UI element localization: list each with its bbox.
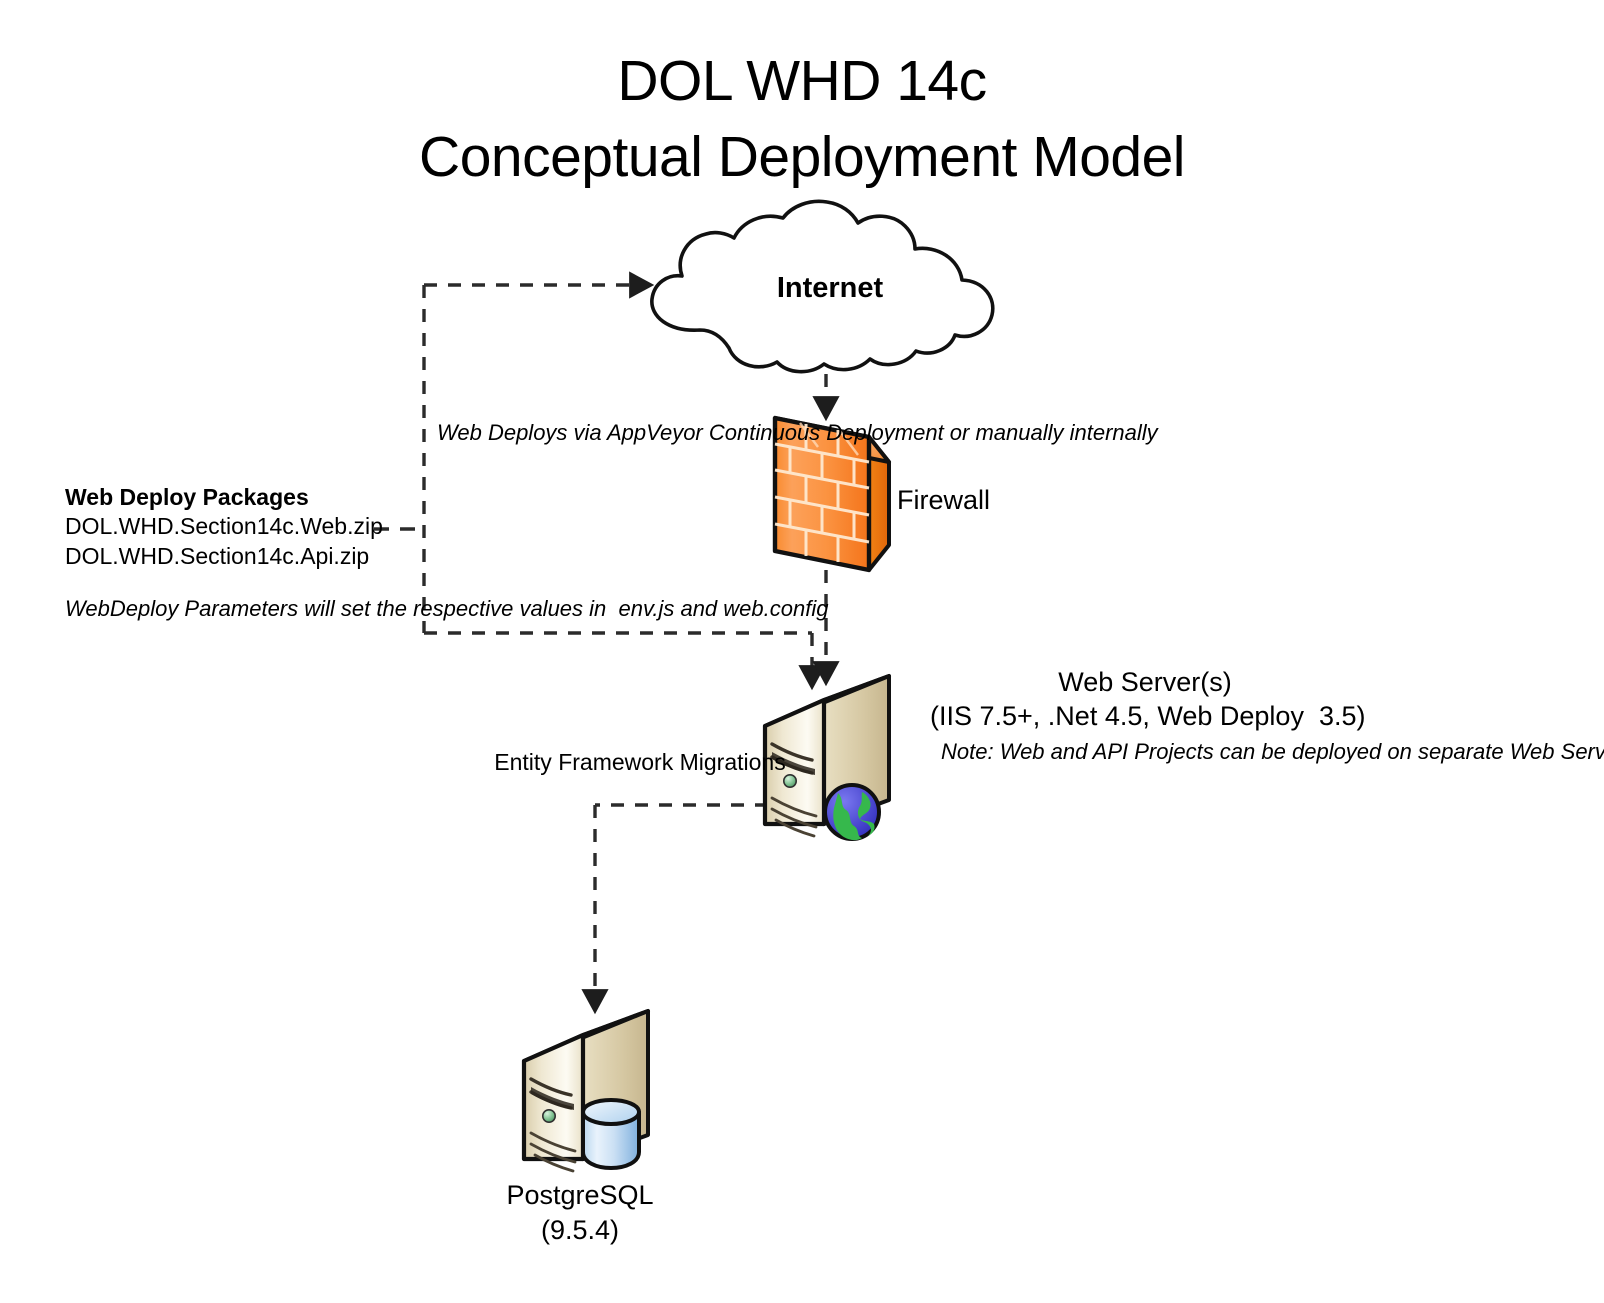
entity-framework-migrations-label: Entity Framework Migrations bbox=[490, 748, 790, 777]
firewall-node-label: Firewall bbox=[897, 483, 990, 518]
globe-icon bbox=[825, 785, 879, 840]
web-server-label: Web Server(s)(IIS 7.5+, .Net 4.5, Web De… bbox=[930, 665, 1360, 733]
database-node-label: PostgreSQL(9.5.4) bbox=[455, 1178, 705, 1248]
deploy-method-annotation: Web Deploys via AppVeyor Continuous Depl… bbox=[437, 419, 737, 447]
web-deploy-packages-heading: Web Deploy Packages bbox=[65, 483, 309, 513]
database-server-icon bbox=[524, 1011, 648, 1171]
web-server-label-line-1: Web Server(s) bbox=[1058, 667, 1232, 697]
web-deploy-packages-list: DOL.WHD.Section14c.Web.zip DOL.WHD.Secti… bbox=[65, 512, 383, 572]
diagram-canvas: DOL WHD 14c Conceptual Deployment Model … bbox=[0, 0, 1604, 1303]
database-label-line-2: (9.5.4) bbox=[541, 1215, 619, 1245]
deployment-diagram-graphics bbox=[0, 0, 1604, 1303]
page-title-line-1: DOL WHD 14c bbox=[0, 44, 1604, 118]
web-server-note: Note: Web and API Projects can be deploy… bbox=[941, 737, 1461, 767]
internet-node-label: Internet bbox=[660, 270, 1000, 308]
database-cylinder-icon bbox=[583, 1100, 639, 1168]
page-title-line-2: Conceptual Deployment Model bbox=[0, 120, 1604, 194]
web-server-label-line-2: (IIS 7.5+, .Net 4.5, Web Deploy 3.5) bbox=[930, 701, 1365, 731]
web-deploy-parameters-note: WebDeploy Parameters will set the respec… bbox=[65, 594, 375, 623]
database-label-line-1: PostgreSQL bbox=[506, 1180, 653, 1210]
